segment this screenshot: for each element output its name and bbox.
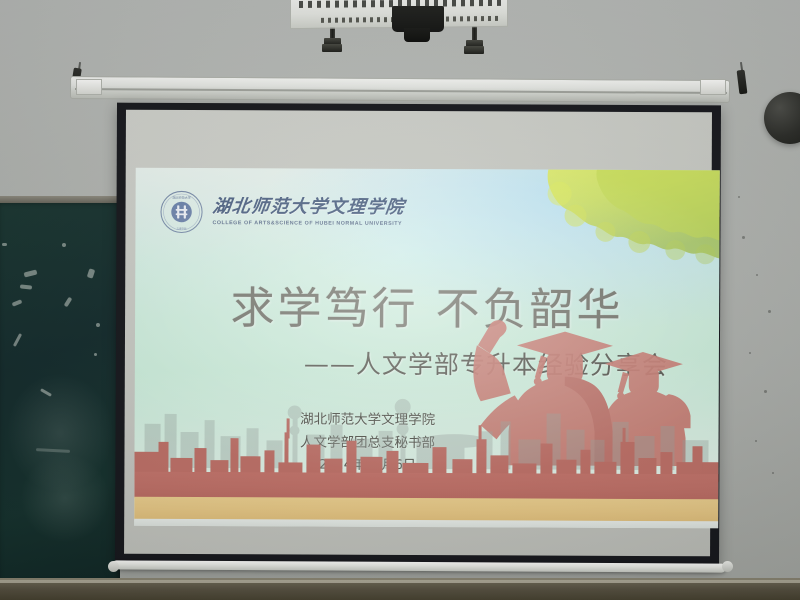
chalk-mark [12,299,23,306]
classroom-scene: 湖北师范大学 文理学院 湖北师范大学文理学院 COLLEGE OF ARTS&S… [0,0,800,600]
wall-speck [749,352,751,354]
chalk-mark [24,270,38,278]
screen-bar-cap-right [722,561,733,572]
chalk-mark [64,297,73,308]
projected-slide: 湖北师范大学 文理学院 湖北师范大学文理学院 COLLEGE OF ARTS&S… [134,168,720,529]
roller-cap-right [700,79,726,95]
wall-speck [764,390,767,393]
wall-speck [738,196,740,198]
screen-roller-housing[interactable] [70,76,730,103]
slide-band-red [134,472,718,501]
wall-speck [772,472,774,474]
projector-vents [439,16,501,22]
screen-surface: 湖北师范大学 文理学院 湖北师范大学文理学院 COLLEGE OF ARTS&S… [124,110,712,557]
chalk-mark [96,323,100,327]
wall-speck [756,274,758,276]
projection-screen[interactable]: 湖北师范大学 文理学院 湖北师范大学文理学院 COLLEGE OF ARTS&S… [115,103,721,568]
chalk-mark [13,333,22,347]
projector-lens-barrel [404,28,430,42]
chalk-mark [87,268,95,278]
projector-foot-left [322,44,342,52]
blackboard [0,203,120,583]
wall-speck [768,310,771,313]
university-logo: 湖北师范大学 文理学院 湖北师范大学文理学院 COLLEGE OF ARTS&S… [159,190,404,235]
wall-speck [755,440,757,442]
slide-band-foot [134,519,718,529]
logo-text-block: 湖北师范大学文理学院 COLLEGE OF ARTS&SCIENCE OF HU… [212,198,404,227]
screen-bar-cap-left [108,561,119,572]
ledge-highlight [0,580,800,583]
roller-cap-left [76,79,102,95]
chalk-smear [20,453,110,543]
chalk-mark [2,243,7,246]
projector-foot-right [464,46,484,54]
wall-speck [742,236,745,239]
svg-text:文理学院: 文理学院 [176,227,186,231]
chalk-mark [94,353,97,356]
roller-seam [75,88,727,93]
svg-text:湖北师范大学: 湖北师范大学 [172,195,191,200]
tree-foliage-graphic [519,168,719,273]
logo-english-name: COLLEGE OF ARTS&SCIENCE OF HUBEI NORMAL … [212,220,404,227]
university-seal-icon: 湖北师范大学 文理学院 [159,190,203,234]
chalk-ledge [0,578,800,600]
logo-chinese-name: 湖北师范大学文理学院 [211,198,405,218]
chalk-mark [20,284,32,289]
chalk-mark [62,243,66,247]
